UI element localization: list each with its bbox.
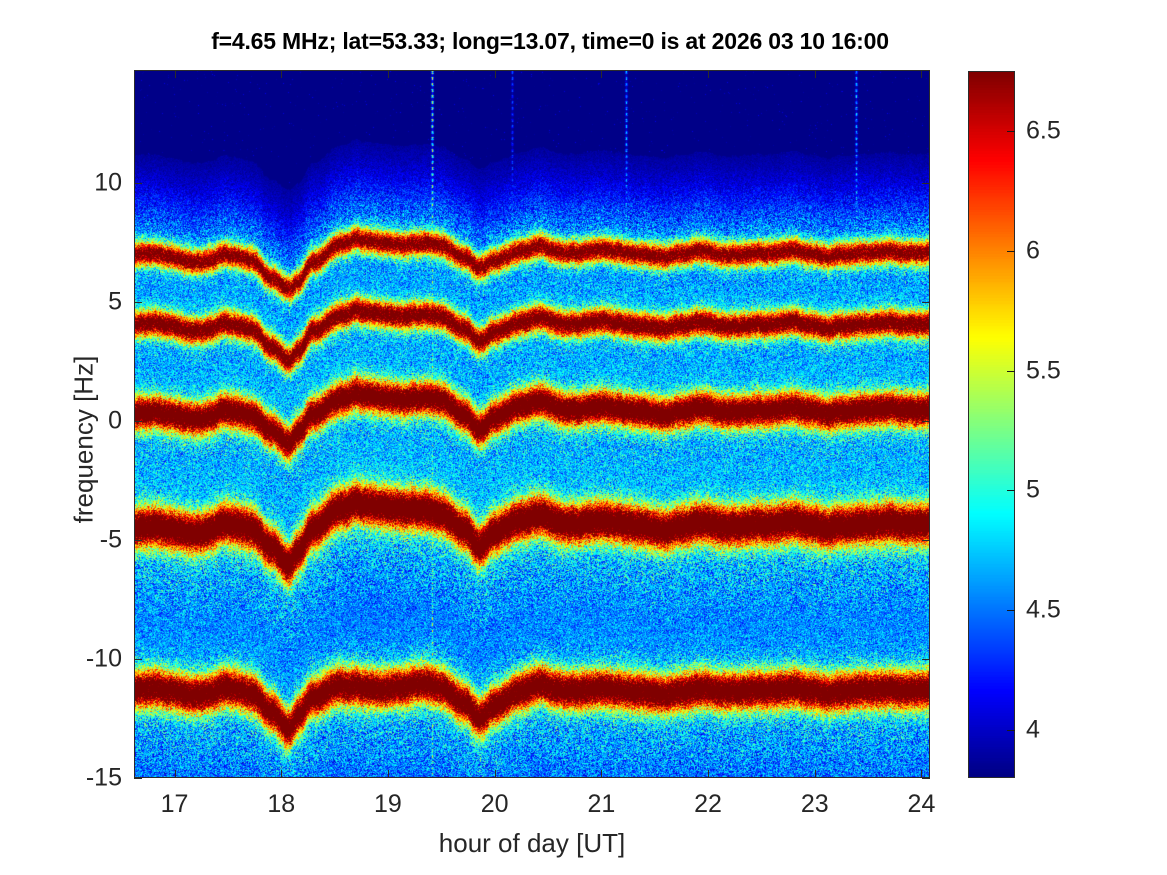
x-tick-label: 22 (668, 790, 748, 819)
y-tick-label: -10 (2, 645, 122, 674)
y-tick-label: -15 (2, 764, 122, 793)
x-tick-mark (495, 770, 496, 778)
colorbar-tick-label: 4 (1026, 716, 1040, 745)
x-tick-mark (388, 770, 389, 778)
x-tick-mark (281, 70, 282, 78)
y-tick-label: -5 (2, 526, 122, 555)
y-tick-mark (922, 659, 930, 660)
x-tick-label: 24 (881, 790, 961, 819)
y-tick-mark (134, 302, 142, 303)
x-tick-mark (921, 70, 922, 78)
x-tick-mark (708, 70, 709, 78)
figure-title: f=4.65 MHz; lat=53.33; long=13.07, time=… (0, 28, 1100, 55)
figure-root: f=4.65 MHz; lat=53.33; long=13.07, time=… (0, 0, 1167, 875)
y-tick-mark (922, 302, 930, 303)
colorbar-tick-mark (1007, 490, 1015, 491)
colorbar-tick-mark (1007, 371, 1015, 372)
x-tick-mark (708, 770, 709, 778)
y-tick-mark (922, 421, 930, 422)
x-tick-label: 18 (241, 790, 321, 819)
y-tick-mark (922, 183, 930, 184)
x-tick-mark (601, 770, 602, 778)
colorbar (968, 71, 1015, 778)
spectrogram-plot-area (134, 70, 930, 778)
colorbar-tick-mark (1007, 251, 1015, 252)
y-tick-mark (134, 778, 142, 779)
x-tick-mark (601, 70, 602, 78)
y-tick-label: 0 (2, 407, 122, 436)
x-tick-mark (281, 770, 282, 778)
y-tick-mark (134, 540, 142, 541)
x-tick-label: 21 (561, 790, 641, 819)
y-tick-mark (922, 778, 930, 779)
y-tick-label: 5 (2, 288, 122, 317)
x-tick-label: 19 (348, 790, 428, 819)
x-tick-label: 20 (455, 790, 535, 819)
y-tick-label: 10 (2, 169, 122, 198)
x-tick-label: 23 (775, 790, 855, 819)
y-tick-mark (134, 421, 142, 422)
x-axis-label: hour of day [UT] (134, 828, 930, 859)
colorbar-tick-label: 6.5 (1026, 116, 1061, 145)
x-tick-mark (815, 70, 816, 78)
colorbar-tick-label: 5 (1026, 476, 1040, 505)
spectrogram-canvas (135, 71, 930, 778)
x-tick-mark (175, 770, 176, 778)
x-tick-mark (921, 770, 922, 778)
colorbar-tick-mark (1007, 131, 1015, 132)
x-tick-mark (495, 70, 496, 78)
colorbar-tick-label: 4.5 (1026, 596, 1061, 625)
x-tick-mark (388, 70, 389, 78)
y-tick-mark (922, 540, 930, 541)
colorbar-tick-mark (1007, 730, 1015, 731)
x-tick-mark (815, 770, 816, 778)
y-tick-mark (134, 659, 142, 660)
y-tick-mark (134, 183, 142, 184)
colorbar-tick-label: 5.5 (1026, 356, 1061, 385)
x-tick-mark (175, 70, 176, 78)
colorbar-tick-mark (1007, 610, 1015, 611)
x-tick-label: 17 (135, 790, 215, 819)
colorbar-canvas (969, 72, 1015, 778)
colorbar-tick-label: 6 (1026, 236, 1040, 265)
